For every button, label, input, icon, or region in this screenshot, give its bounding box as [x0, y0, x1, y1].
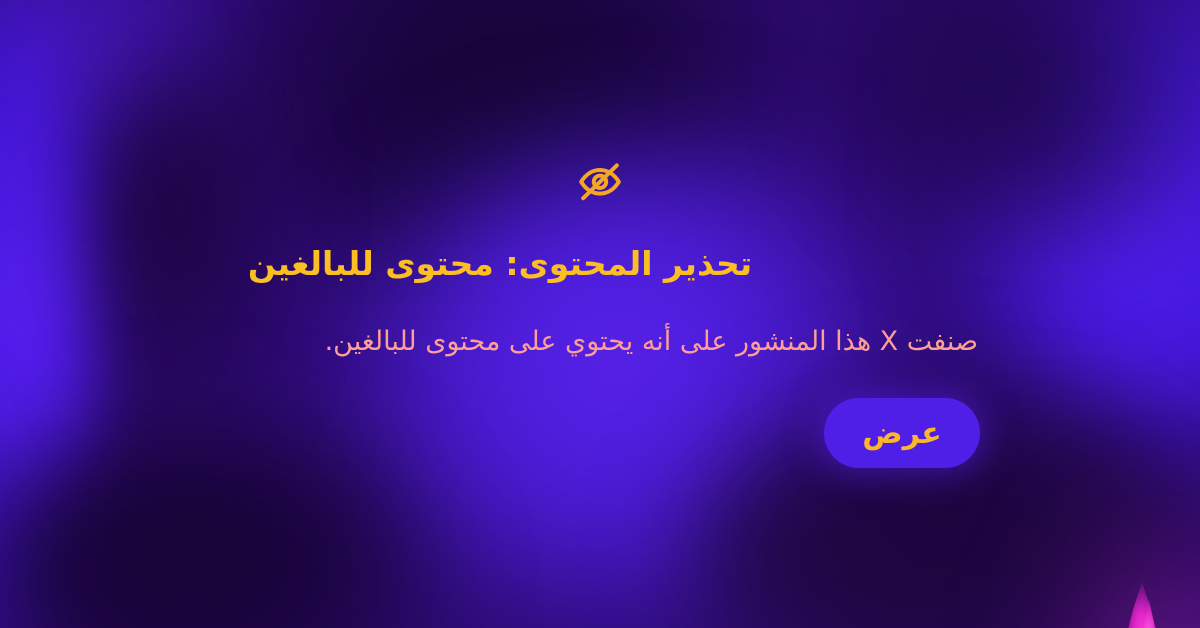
eye-off-icon [576, 157, 624, 205]
view-content-button[interactable]: عرض [824, 398, 980, 468]
content-warning-panel: تحذير المحتوى: محتوى للبالغين صنفت X هذا… [0, 0, 1200, 628]
warning-description: صنفت X هذا المنشور على أنه يحتوي على محت… [222, 324, 978, 359]
page-title: تحذير المحتوى: محتوى للبالغين [0, 243, 1200, 284]
